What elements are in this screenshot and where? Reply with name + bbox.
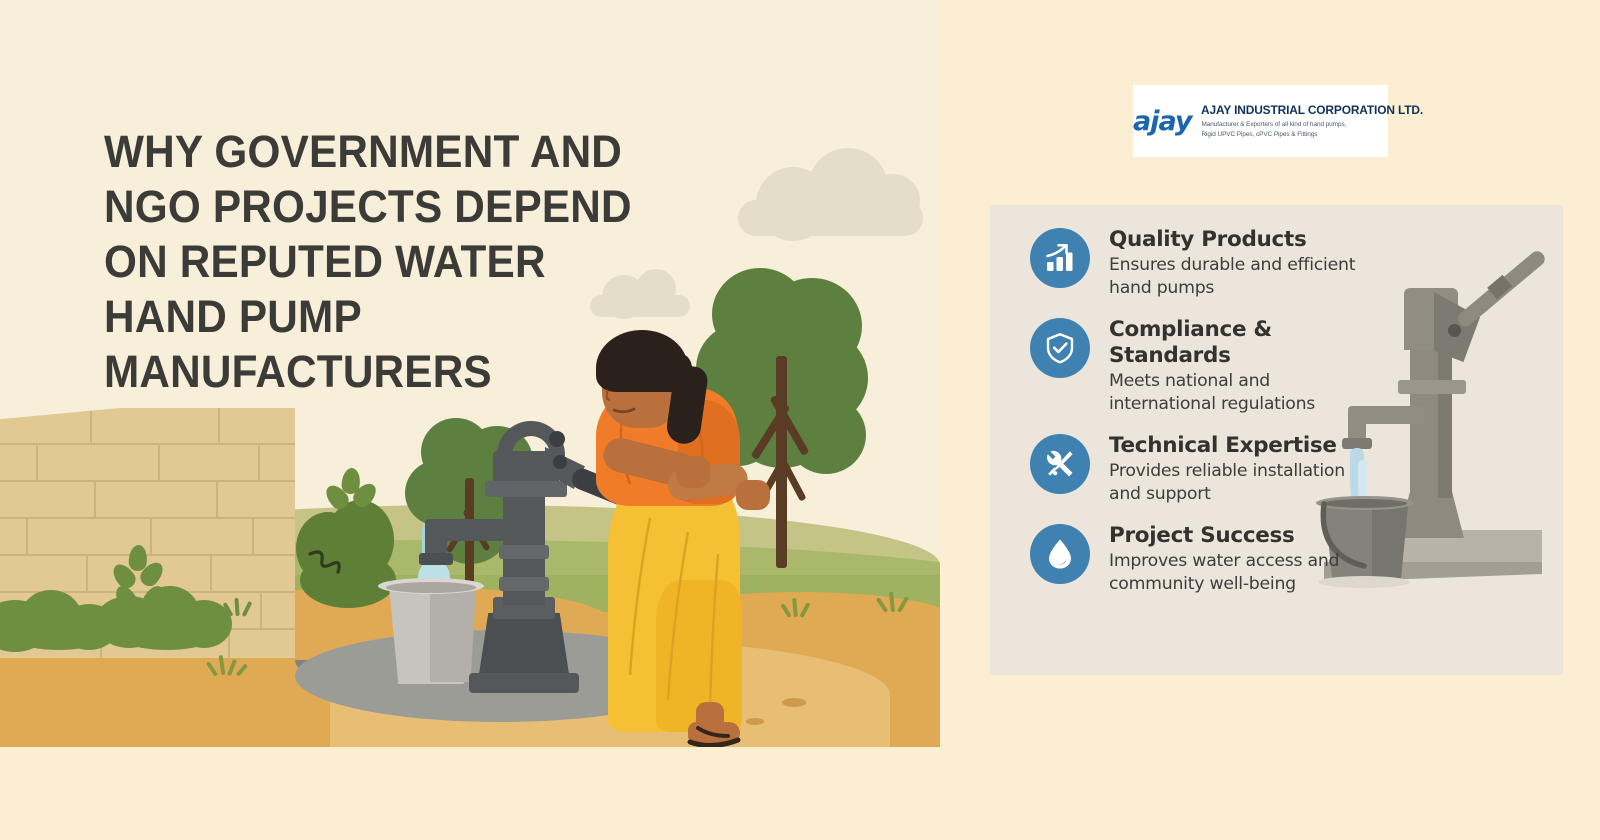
features-panel: Quality Products Ensures durable and eff…	[990, 205, 1563, 675]
feature-item-compliance-standards[interactable]: Compliance & Standards Meets national an…	[1030, 313, 1380, 415]
feature-text-block: Project Success Improves water access an…	[1109, 519, 1380, 595]
cloud-icon	[738, 200, 923, 236]
company-tagline-line-1: Manufacturer & Exporters of all kind of …	[1201, 120, 1430, 129]
feature-title: Quality Products	[1109, 227, 1380, 253]
feature-item-project-success[interactable]: Project Success Improves water access an…	[1030, 519, 1380, 595]
feature-title: Compliance & Standards	[1109, 317, 1380, 369]
company-tagline-line-2: Rigid UPVC Pipes, cPVC Pipes & Fittings	[1201, 130, 1430, 139]
pump-column-shade	[1438, 338, 1452, 498]
company-name: AJAY INDUSTRIAL CORPORATION LTD.	[1201, 103, 1423, 117]
feature-text-block: Technical Expertise Provides reliable in…	[1109, 429, 1380, 505]
wrench-screwdriver-icon	[1030, 434, 1090, 494]
logo-text-block: AJAY INDUSTRIAL CORPORATION LTD. Manufac…	[1191, 103, 1430, 139]
illustration-card: WHY GOVERNMENT AND NGO PROJECTS DEPEND O…	[0, 0, 940, 747]
headline-line-1: WHY GOVERNMENT AND	[104, 124, 649, 179]
page-title: WHY GOVERNMENT AND NGO PROJECTS DEPEND O…	[104, 124, 649, 399]
pump-flange	[1398, 380, 1466, 394]
woman-hand-left	[676, 456, 710, 488]
feature-title: Technical Expertise	[1109, 433, 1380, 459]
shield-check-icon	[1030, 318, 1090, 378]
sandal-icon	[684, 718, 748, 747]
squiggle-decoration	[306, 548, 346, 584]
headline-line-2: NGO PROJECTS DEPEND	[104, 179, 649, 234]
headline-line-3: ON REPUTED WATER	[104, 234, 649, 289]
feature-item-quality-products[interactable]: Quality Products Ensures durable and eff…	[1030, 223, 1380, 299]
water-droplet-icon	[1030, 524, 1090, 584]
feature-title: Project Success	[1109, 523, 1380, 549]
pump-pivot	[1448, 324, 1461, 337]
woman-hand-right	[736, 480, 770, 510]
skirt-folds	[614, 510, 744, 725]
pebble	[782, 698, 806, 707]
feature-text-block: Compliance & Standards Meets national an…	[1109, 313, 1380, 415]
bucket-shade	[430, 590, 476, 682]
feature-description: Improves water access and community well…	[1109, 550, 1380, 595]
bucket-inner	[386, 582, 476, 593]
feature-description: Meets national and international regulat…	[1109, 370, 1380, 415]
headline-line-4: HAND PUMP	[104, 289, 649, 344]
headline-line-5: MANUFACTURERS	[104, 344, 649, 399]
feature-text-block: Quality Products Ensures durable and eff…	[1109, 223, 1380, 299]
feature-description: Ensures durable and efficient hand pumps	[1109, 254, 1380, 299]
ajay-wordmark: ajay	[1133, 106, 1191, 137]
feature-description: Provides reliable installation and suppo…	[1109, 460, 1380, 505]
feature-item-technical-expertise[interactable]: Technical Expertise Provides reliable in…	[1030, 429, 1380, 505]
bar-chart-growth-icon	[1030, 228, 1090, 288]
infographic-page: WHY GOVERNMENT AND NGO PROJECTS DEPEND O…	[0, 0, 1600, 840]
company-logo-box[interactable]: ajay AJAY INDUSTRIAL CORPORATION LTD. Ma…	[1133, 85, 1388, 157]
feature-list: Quality Products Ensures durable and eff…	[1030, 223, 1380, 609]
